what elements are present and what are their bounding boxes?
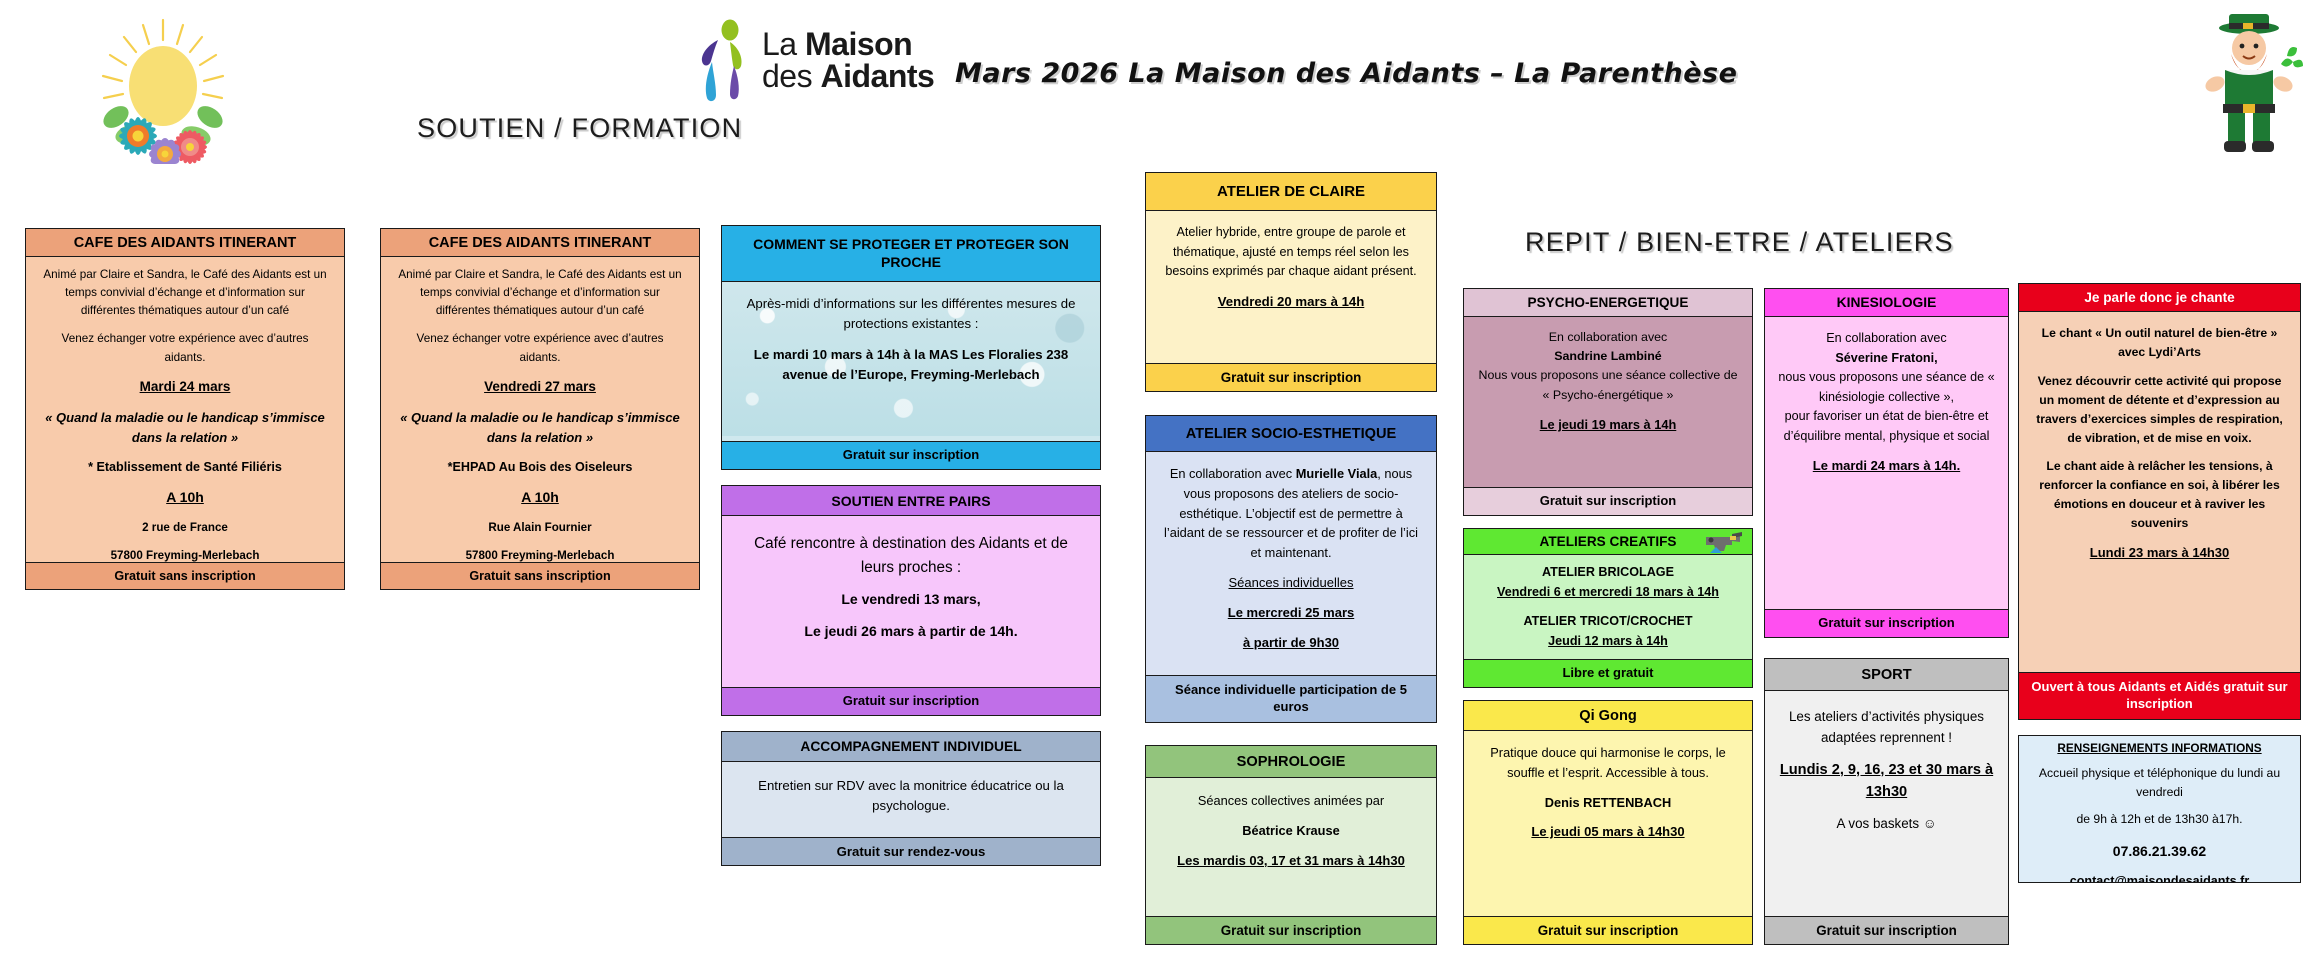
card-atelier-de-claire[interactable]: ATELIER DE CLAIRE Atelier hybride, entre…	[1145, 172, 1437, 392]
card-subtitle-2: ATELIER TRICOT/CROCHET	[1470, 612, 1746, 632]
card-accompagnement-individuel[interactable]: ACCOMPAGNEMENT INDIVIDUEL Entretien sur …	[721, 731, 1101, 866]
card-date: Mardi 24 mars	[40, 377, 330, 398]
card-paragraph: Venez échanger votre expérience avec d’a…	[40, 330, 330, 366]
card-cafe-aidants-itinerant-2[interactable]: CAFE DES AIDANTS ITINERANT Animé par Cla…	[380, 228, 700, 590]
card-paragraph: Après-midi d’informations sur les différ…	[740, 294, 1082, 335]
card-footer: Gratuit sur inscription	[1146, 916, 1436, 944]
card-kinesiologie[interactable]: KINESIOLOGIE En collaboration avec Séver…	[1764, 288, 2009, 638]
card-footer: Gratuit sur inscription	[722, 687, 1100, 715]
card-paragraph: Animé par Claire et Sandra, le Café des …	[40, 266, 330, 320]
glue-gun-icon	[1702, 531, 1746, 553]
logo-line1-light: La	[762, 26, 805, 62]
card-time: à partir de 9h30	[1160, 633, 1422, 653]
chant-partner-name: Lydi’Arts	[2149, 345, 2201, 359]
card-theme: « Quand la maladie ou le handicap s’immi…	[395, 408, 685, 448]
card-sophrologie[interactable]: SOPHROLOGIE Séances collectives animées …	[1145, 745, 1437, 945]
card-title: SOPHROLOGIE	[1146, 746, 1436, 778]
card-paragraph: En collaboration avec	[1777, 329, 1996, 349]
card-date-2: Le jeudi 26 mars à partir de 14h.	[742, 621, 1080, 643]
logo-line1-bold: Maison	[805, 26, 912, 62]
card-paragraph: Pratique douce qui harmonise le corps, l…	[1474, 743, 1742, 783]
socio-partner-name: Murielle Viala	[1296, 466, 1378, 481]
card-date: Vendredi 27 mars	[395, 377, 685, 398]
card-phone[interactable]: 07.86.21.39.62	[2031, 841, 2288, 863]
card-venue-1: *EHPAD Au Bois des Oiseleurs	[395, 458, 685, 478]
section-heading-repit: REPIT / BIEN-ETRE / ATELIERS	[1525, 227, 1954, 258]
card-date: Le jeudi 19 mars à 14h	[1474, 415, 1742, 435]
card-footer: Gratuit sur inscription	[1464, 916, 1752, 944]
card-title: RENSEIGNEMENTS INFORMATIONS	[2019, 736, 2300, 760]
card-partner-name: Sandrine Lambiné	[1474, 347, 1742, 366]
card-animator: Denis RETTENBACH	[1474, 793, 1742, 813]
card-title: CAFE DES AIDANTS ITINERANT	[26, 229, 344, 257]
card-paragraph: Animé par Claire et Sandra, le Café des …	[395, 266, 685, 320]
card-sport[interactable]: SPORT Les ateliers d’activités physiques…	[1764, 658, 2009, 945]
card-title: Je parle donc je chante	[2019, 284, 2300, 312]
card-email[interactable]: contact@maisondesaidants.fr	[2031, 872, 2288, 883]
card-paragraph: Café rencontre à destination des Aidants…	[742, 532, 1080, 579]
card-title: ATELIER DE CLAIRE	[1146, 173, 1436, 211]
socio-text-a: En collaboration avec	[1170, 466, 1296, 481]
card-footer: Gratuit sur inscription	[1146, 363, 1436, 391]
card-date: Le jeudi 05 mars à 14h30	[1474, 822, 1742, 842]
card-date: Le mardi 24 mars à 14h.	[1777, 456, 1996, 476]
card-footer: Gratuit sans inscription	[26, 562, 344, 589]
card-date: Lundi 23 mars à 14h30	[2031, 543, 2288, 563]
card-date-1: Vendredi 6 et mercredi 18 mars à 14h	[1470, 583, 1746, 603]
card-paragraph: Séances collectives animées par	[1158, 791, 1424, 811]
card-title: COMMENT SE PROTEGER ET PROTEGER SON PROC…	[722, 226, 1100, 282]
card-je-parle-donc-je-chante[interactable]: Je parle donc je chante Le chant « Un ou…	[2018, 283, 2301, 720]
card-date-1: Le vendredi 13 mars,	[742, 589, 1080, 611]
card-footer: Ouvert à tous Aidants et Aidés gratuit s…	[2019, 672, 2300, 719]
card-footer: Gratuit sans inscription	[381, 562, 699, 589]
card-date: Vendredi 20 mars à 14h	[1160, 292, 1422, 312]
card-hours: de 9h à 12h et de 13h30 à17h.	[2031, 810, 2288, 829]
card-date-location: Le mardi 10 mars à 14h à la MAS Les Flor…	[740, 345, 1082, 386]
card-paragraph: Les ateliers d’activités physiques adapt…	[1779, 707, 1994, 749]
card-paragraph: Atelier hybride, entre groupe de parole …	[1160, 223, 1422, 282]
logo-line2-light: des	[762, 58, 820, 94]
card-psycho-energetique[interactable]: PSYCHO-ENERGETIQUE En collaboration avec…	[1463, 288, 1753, 516]
card-slogan: A vos baskets ☺	[1779, 814, 1994, 835]
maison-des-aidants-logo-icon	[690, 18, 756, 102]
card-cafe-aidants-itinerant-1[interactable]: CAFE DES AIDANTS ITINERANT Animé par Cla…	[25, 228, 345, 590]
sun-flowers-icon	[68, 14, 258, 164]
card-paragraph: Accueil physique et téléphonique du lund…	[2031, 764, 2288, 802]
card-title-text: ATELIERS CREATIFS	[1540, 534, 1677, 549]
section-heading-soutien: SOUTIEN / FORMATION	[417, 113, 742, 144]
card-venue-1: * Etablissement de Santé Filiéris	[40, 458, 330, 478]
card-partner-name: Séverine Fratoni,	[1777, 349, 1996, 369]
card-paragraph: pour favoriser un état de bien-être et d…	[1777, 407, 1996, 446]
card-title: Qi Gong	[1464, 701, 1752, 731]
card-comment-se-proteger[interactable]: COMMENT SE PROTEGER ET PROTEGER SON PROC…	[721, 225, 1101, 470]
card-paragraph: Entretien sur RDV avec la monitrice éduc…	[738, 776, 1084, 817]
leprechaun-icon	[2195, 12, 2303, 162]
card-paragraph: En collaboration avec	[1474, 328, 1742, 347]
card-hour-1: A 10h	[40, 487, 330, 509]
card-qi-gong[interactable]: Qi Gong Pratique douce qui harmonise le …	[1463, 700, 1753, 945]
card-hour-1: A 10h	[395, 487, 685, 509]
card-renseignements-informations[interactable]: RENSEIGNEMENTS INFORMATIONS Accueil phys…	[2018, 735, 2301, 883]
banner-title: Mars 2026 La Maison des Aidants – La Par…	[955, 58, 1737, 89]
card-address-1a: Rue Alain Fournier	[395, 519, 685, 537]
card-footer: Libre et gratuit	[1464, 659, 1752, 687]
card-paragraph: Le chant « Un outil naturel de bien-être…	[2031, 324, 2288, 362]
card-title: ATELIER SOCIO-ESTHETIQUE	[1146, 416, 1436, 452]
card-paragraph: Venez découvrir cette activité qui propo…	[2031, 372, 2288, 448]
card-atelier-socio-esthetique[interactable]: ATELIER SOCIO-ESTHETIQUE En collaboratio…	[1145, 415, 1437, 723]
card-date: Le mercredi 25 mars	[1160, 603, 1422, 623]
card-footer: Séance individuelle participation de 5 e…	[1146, 675, 1436, 722]
card-theme: « Quand la maladie ou le handicap s’immi…	[40, 408, 330, 448]
card-title: SOUTIEN ENTRE PAIRS	[722, 486, 1100, 516]
card-footer: Gratuit sur inscription	[1765, 609, 2008, 637]
card-sessions-label: Séances individuelles	[1160, 573, 1422, 593]
card-title: ATELIERS CREATIFS	[1464, 529, 1752, 555]
card-soutien-entre-pairs[interactable]: SOUTIEN ENTRE PAIRS Café rencontre à des…	[721, 485, 1101, 716]
card-paragraph: Venez échanger votre expérience avec d’a…	[395, 330, 685, 366]
card-title: CAFE DES AIDANTS ITINERANT	[381, 229, 699, 257]
card-paragraph: Nous vous proposons une séance collectiv…	[1474, 366, 1742, 404]
logo-line2-bold: Aidants	[820, 58, 934, 94]
card-date-2: Jeudi 12 mars à 14h	[1470, 632, 1746, 652]
card-title: SPORT	[1765, 659, 2008, 691]
card-animator: Béatrice Krause	[1158, 821, 1424, 841]
card-subtitle-1: ATELIER BRICOLAGE	[1470, 563, 1746, 583]
card-address-1a: 2 rue de France	[40, 519, 330, 537]
card-date: Lundis 2, 9, 16, 23 et 30 mars à 13h30	[1779, 759, 1994, 804]
card-footer: Gratuit sur inscription	[722, 441, 1100, 469]
card-title: KINESIOLOGIE	[1765, 289, 2008, 317]
card-paragraph: Le chant aide à relâcher les tensions, à…	[2031, 457, 2288, 533]
card-paragraph: En collaboration avec Murielle Viala, no…	[1160, 464, 1422, 563]
card-footer: Gratuit sur inscription	[1765, 916, 2008, 944]
card-ateliers-creatifs[interactable]: ATELIERS CREATIFS ATELIER BRICOLAGE Vend…	[1463, 528, 1753, 688]
maison-des-aidants-logo: La Maison des Aidants	[690, 14, 940, 106]
card-footer: Gratuit sur inscription	[1464, 487, 1752, 515]
card-footer: Gratuit sur rendez-vous	[722, 837, 1100, 865]
card-paragraph: nous vous proposons une séance de « kiné…	[1777, 368, 1996, 407]
page-header: La Maison des Aidants Mars 2026 La Maiso…	[0, 0, 2316, 140]
card-title: PSYCHO-ENERGETIQUE	[1464, 289, 1752, 317]
card-title: ACCOMPAGNEMENT INDIVIDUEL	[722, 732, 1100, 762]
card-date: Les mardis 03, 17 et 31 mars à 14h30	[1158, 851, 1424, 871]
